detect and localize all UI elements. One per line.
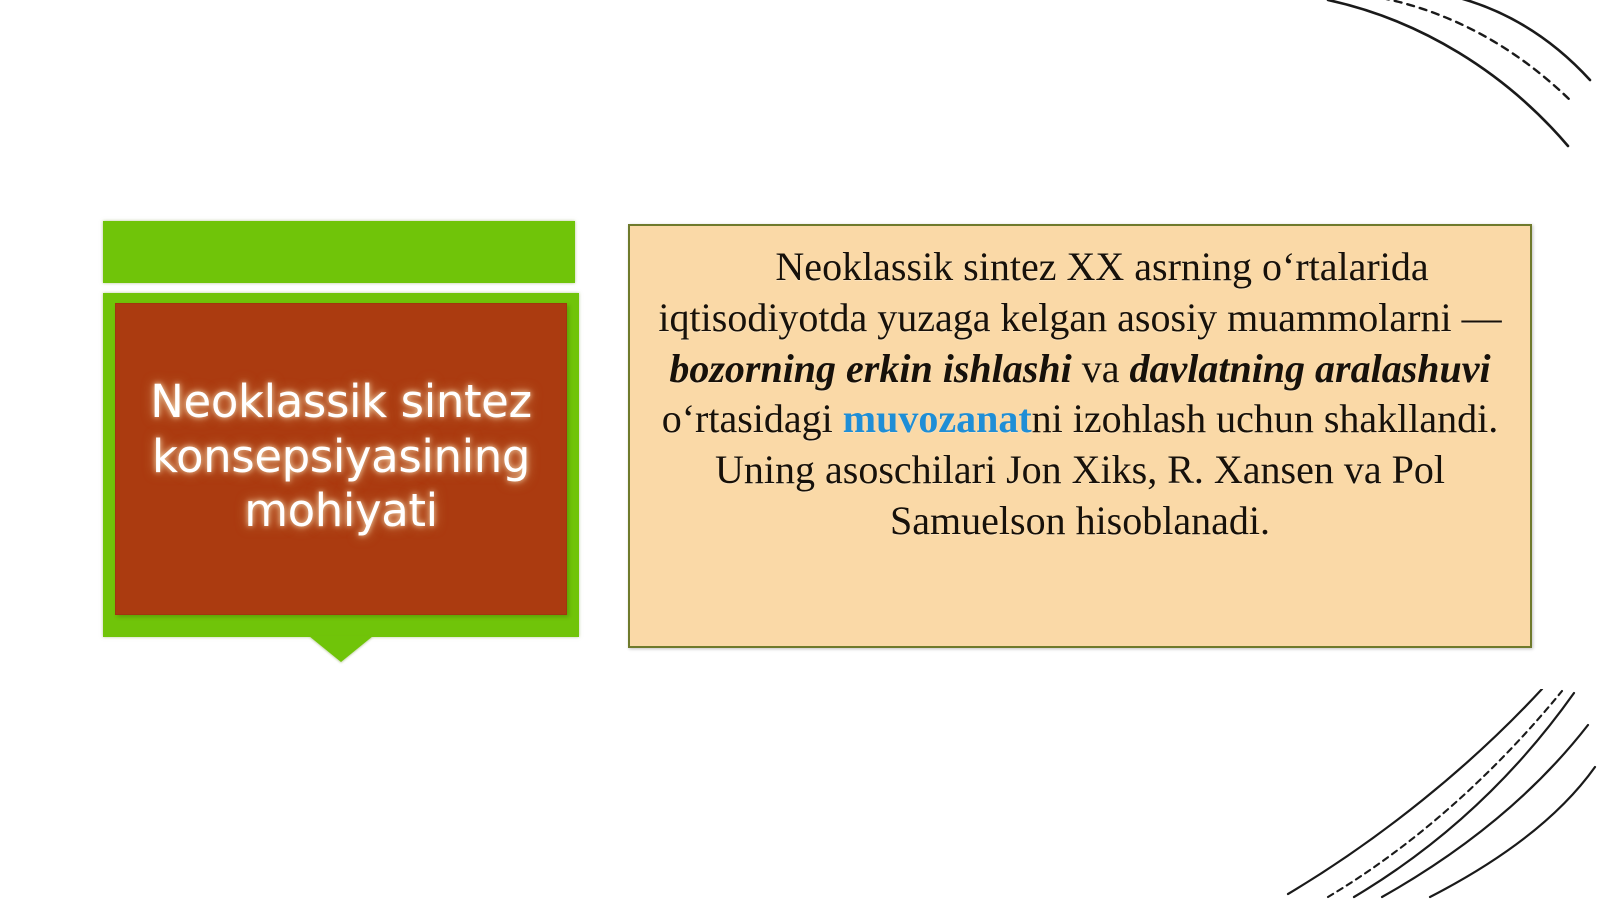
body-text-run-1: bozorning erkin ishlashi	[669, 346, 1071, 391]
body-text-run-0: Neoklassik sintez XX asrning oʻrtalarida…	[658, 244, 1501, 340]
corner-swoosh-top-right-icon	[1300, 0, 1600, 164]
body-text-run-3: davlatning aralashuvi	[1129, 346, 1490, 391]
body-text-content: Neoklassik sintez XX asrning oʻrtalarida…	[630, 226, 1530, 547]
slide-canvas: Neoklassik sintez konsepsiyasining mohiy…	[0, 0, 1600, 899]
body-text-panel: Neoklassik sintez XX asrning oʻrtalarida…	[628, 224, 1532, 648]
body-text-run-4: oʻrtasidagi	[662, 396, 843, 441]
callout-body: Neoklassik sintez konsepsiyasining mohiy…	[103, 293, 579, 637]
callout-gap	[103, 283, 579, 293]
callout-top-bar	[103, 221, 575, 283]
callout-title-text: Neoklassik sintez konsepsiyasining mohiy…	[115, 369, 567, 550]
callout-inner-panel: Neoklassik sintez konsepsiyasining mohiy…	[115, 303, 567, 615]
body-text-run-2: va	[1072, 346, 1130, 391]
corner-swoosh-bottom-right-icon	[1270, 689, 1600, 899]
callout-tail-triangle	[309, 636, 373, 662]
title-callout: Neoklassik sintez konsepsiyasining mohiy…	[103, 221, 579, 637]
body-text-run-5: muvozanat	[843, 396, 1032, 441]
